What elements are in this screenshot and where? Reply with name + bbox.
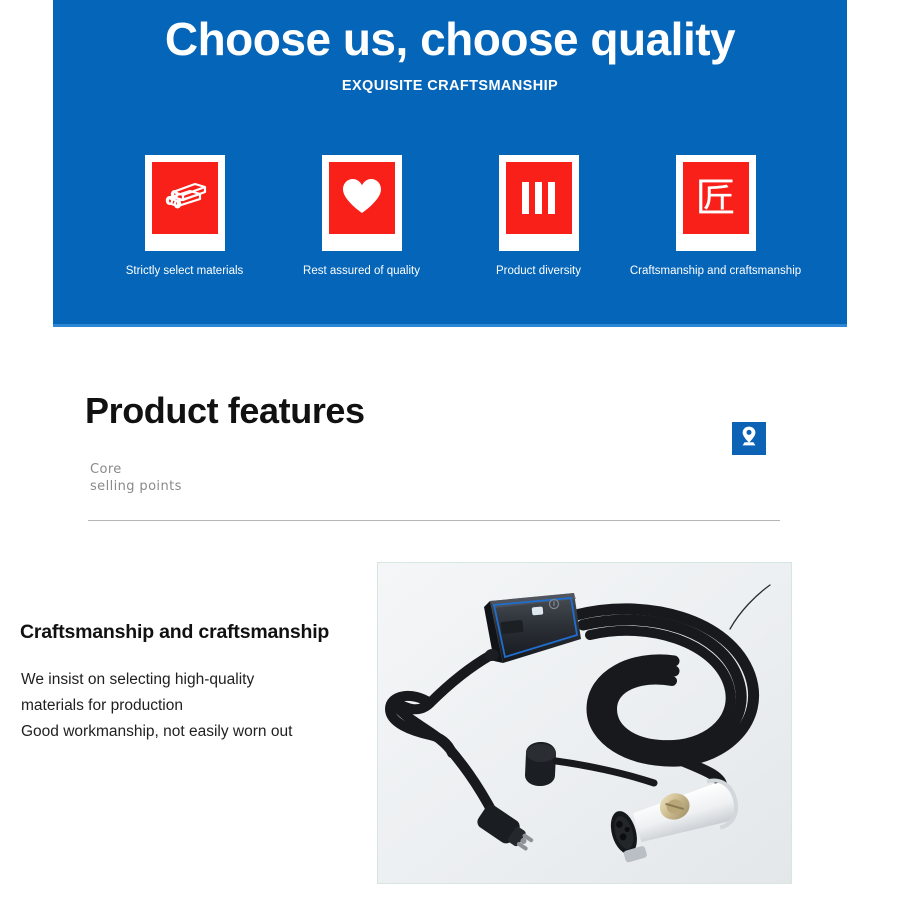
kanji-jiang-icon: 匠 <box>696 178 736 218</box>
detail-body-text: We insist on selecting high-quality mate… <box>21 667 292 745</box>
feature-card-strictly-select-materials[interactable]: Strictly select materials <box>130 155 240 279</box>
map-pin-badge[interactable] <box>732 422 766 455</box>
feature-card-label: Product diversity <box>496 265 581 279</box>
product-photo <box>377 562 792 884</box>
three-bars-icon <box>522 182 555 214</box>
feature-card-rest-assured-of-quality[interactable]: Rest assured of quality <box>307 155 417 279</box>
heart-icon <box>341 177 383 220</box>
ev-charging-cable-photo <box>378 563 791 883</box>
card-swatch: 匠 <box>683 162 749 234</box>
detail-heading: Craftsmanship and craftsmanship <box>20 621 329 644</box>
hero-banner: Choose us, choose quality EXQUISITE CRAF… <box>53 0 847 327</box>
banner-subtitle: EXQUISITE CRAFTSMANSHIP <box>53 78 847 94</box>
banner-title: Choose us, choose quality <box>53 12 847 66</box>
feature-card-craftsmanship[interactable]: 匠 Craftsmanship and craftsmanship <box>661 155 771 279</box>
feature-card-label: Rest assured of quality <box>303 265 420 279</box>
feature-card-label: Craftsmanship and craftsmanship <box>630 265 801 279</box>
card-swatch <box>152 162 218 234</box>
material-rolls-icon <box>161 176 209 221</box>
feature-card-label: Strictly select materials <box>126 265 244 279</box>
map-pin-icon <box>739 425 759 452</box>
card-frame <box>322 155 402 251</box>
card-frame <box>499 155 579 251</box>
core-selling-points-label: Core selling points <box>90 461 182 495</box>
section-divider <box>88 520 780 521</box>
feature-card-list: Strictly select materials Rest assured o… <box>53 155 847 279</box>
card-frame: 匠 <box>676 155 756 251</box>
card-swatch <box>329 162 395 234</box>
card-frame <box>145 155 225 251</box>
feature-card-product-diversity[interactable]: Product diversity <box>484 155 594 279</box>
card-swatch <box>506 162 572 234</box>
page-title: Product features <box>85 390 365 432</box>
